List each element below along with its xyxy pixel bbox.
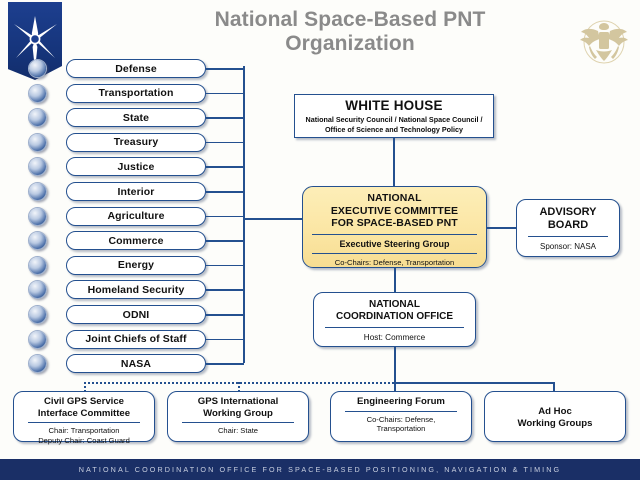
agency-connector-line (206, 93, 244, 95)
agency-label: Joint Chiefs of Staff (85, 333, 186, 345)
agency-connector-line (206, 191, 244, 193)
divider (312, 234, 477, 235)
coordination-office-host: Host: Commerce (314, 333, 475, 342)
agency-label: ODNI (123, 309, 150, 321)
nasa-seal-icon (28, 354, 47, 373)
org-chart-slide: National Space-Based PNT Organization De… (0, 0, 640, 480)
dod-seal-icon (28, 59, 47, 78)
divider (345, 411, 457, 412)
coordination-office-title-line2: COORDINATION OFFICE (314, 311, 475, 323)
dhs-seal-icon (28, 280, 47, 299)
agency-bus-line (243, 66, 245, 363)
dot-seal-icon (28, 84, 47, 103)
agency-connector-line (206, 363, 244, 365)
agency-box-energy[interactable]: Energy (66, 256, 206, 275)
exec-committee-title-line2: EXECUTIVE COMMITTEE (303, 205, 486, 218)
agency-label: State (123, 112, 149, 124)
agency-connector-line (206, 289, 244, 291)
group-title-line2: Interface Committee (14, 408, 154, 420)
agency-to-execcom-line (243, 218, 304, 220)
jcs-seal-icon (28, 330, 47, 349)
group-detail-line1: Chair: Transportation (14, 426, 154, 436)
agency-box-joint-chiefs-of-staff[interactable]: Joint Chiefs of Staff (66, 330, 206, 349)
divider (312, 253, 477, 254)
group-detail-line1: Chair: State (168, 426, 308, 436)
agency-connector-line (206, 68, 244, 70)
coordination-office-title-line1: NATIONAL (314, 299, 475, 311)
odni-seal-icon (28, 305, 47, 324)
group-detail-line2: Deputy Chair: Coast Guard (14, 436, 154, 446)
advisory-board-box[interactable]: ADVISORY BOARD Sponsor: NASA (516, 199, 620, 257)
divider (528, 236, 608, 237)
white-house-subtitle-line1: National Security Council / National Spa… (295, 115, 493, 125)
agency-box-commerce[interactable]: Commerce (66, 231, 206, 250)
energy-seal-icon (28, 256, 47, 275)
agency-label: Homeland Security (88, 284, 185, 296)
exec-committee-box[interactable]: NATIONAL EXECUTIVE COMMITTEE FOR SPACE-B… (302, 186, 487, 268)
advisory-board-title-line2: BOARD (517, 219, 619, 232)
solid-bus-line (394, 382, 553, 384)
page-title-line1: National Space-Based PNT (150, 8, 550, 32)
agency-box-state[interactable]: State (66, 108, 206, 127)
agency-label: Treasury (114, 136, 159, 148)
advisory-board-sponsor: Sponsor: NASA (517, 242, 619, 251)
exec-committee-cochairs: Co-Chairs: Defense, Transportation (303, 258, 486, 267)
group-title-line1: GPS International (168, 396, 308, 408)
agency-box-treasury[interactable]: Treasury (66, 133, 206, 152)
group-title-line2: Working Groups (485, 418, 625, 430)
group-detail-line1: Co-Chairs: Defense, (331, 415, 471, 425)
agency-box-interior[interactable]: Interior (66, 182, 206, 201)
agency-label: Interior (118, 186, 155, 198)
agency-box-agriculture[interactable]: Agriculture (66, 207, 206, 226)
group-title-line1: Ad Hoc (485, 406, 625, 418)
group-title-line1: Engineering Forum (331, 396, 471, 408)
page-title-line2: Organization (150, 32, 550, 56)
whitehouse-to-execcom-line (393, 138, 395, 186)
group-title-line2: Working Group (168, 408, 308, 420)
group-box-civil-gps-service-interface-committee[interactable]: Civil GPS ServiceInterface CommitteeChai… (13, 391, 155, 442)
footer-text: NATIONAL COORDINATION OFFICE FOR SPACE-B… (79, 465, 562, 474)
divider (28, 422, 140, 423)
agency-label: Defense (115, 63, 157, 75)
agency-connector-line (206, 142, 244, 144)
agency-label: Justice (118, 161, 155, 173)
agency-label: NASA (121, 358, 151, 370)
group-box-engineering-forum[interactable]: Engineering ForumCo-Chairs: Defense,Tran… (330, 391, 472, 442)
agency-label: Agriculture (107, 210, 164, 222)
group-box-ad-hoc-working-groups[interactable]: Ad HocWorking Groups (484, 391, 626, 442)
agency-label: Transportation (99, 87, 174, 99)
agency-box-justice[interactable]: Justice (66, 157, 206, 176)
agency-connector-line (206, 117, 244, 119)
us-eagle-seal-icon (576, 12, 632, 70)
interior-seal-icon (28, 182, 47, 201)
agency-box-defense[interactable]: Defense (66, 59, 206, 78)
agency-box-odni[interactable]: ODNI (66, 305, 206, 324)
treasury-seal-icon (28, 133, 47, 152)
group-detail-line2: Transportation (331, 424, 471, 434)
exec-committee-title-line3: FOR SPACE-BASED PNT (303, 217, 486, 230)
agency-label: Commerce (108, 235, 163, 247)
footer-bar: NATIONAL COORDINATION OFFICE FOR SPACE-B… (0, 459, 640, 480)
divider (325, 327, 464, 328)
exec-committee-title-line1: NATIONAL (303, 192, 486, 205)
page-title: National Space-Based PNT Organization (150, 8, 550, 55)
agency-connector-line (206, 314, 244, 316)
agency-connector-line (206, 339, 244, 341)
agency-box-nasa[interactable]: NASA (66, 354, 206, 373)
agency-connector-line (206, 265, 244, 267)
white-house-title: WHITE HOUSE (295, 98, 493, 113)
coordination-office-box[interactable]: NATIONAL COORDINATION OFFICE Host: Comme… (313, 292, 476, 347)
group-title-line1: Civil GPS Service (14, 396, 154, 408)
usda-seal-icon (28, 207, 47, 226)
execcom-to-nco-line (394, 268, 396, 292)
agency-connector-line (206, 166, 244, 168)
group-box-gps-international-working-group[interactable]: GPS InternationalWorking GroupChair: Sta… (167, 391, 309, 442)
divider (182, 422, 294, 423)
white-house-box[interactable]: WHITE HOUSE National Security Council / … (294, 94, 494, 138)
agency-connector-line (206, 216, 244, 218)
doj-seal-icon (28, 157, 47, 176)
state-dept-seal-icon (28, 108, 47, 127)
nco-to-groups-line (394, 347, 396, 392)
commerce-seal-icon (28, 231, 47, 250)
agency-box-homeland-security[interactable]: Homeland Security (66, 280, 206, 299)
white-house-subtitle-line2: Office of Science and Technology Policy (295, 125, 493, 135)
agency-box-transportation[interactable]: Transportation (66, 84, 206, 103)
execcom-to-advisory-line (487, 227, 516, 229)
agency-label: Energy (118, 259, 154, 271)
advisory-board-title-line1: ADVISORY (517, 206, 619, 219)
agency-connector-line (206, 240, 244, 242)
exec-committee-subtitle: Executive Steering Group (303, 239, 486, 249)
